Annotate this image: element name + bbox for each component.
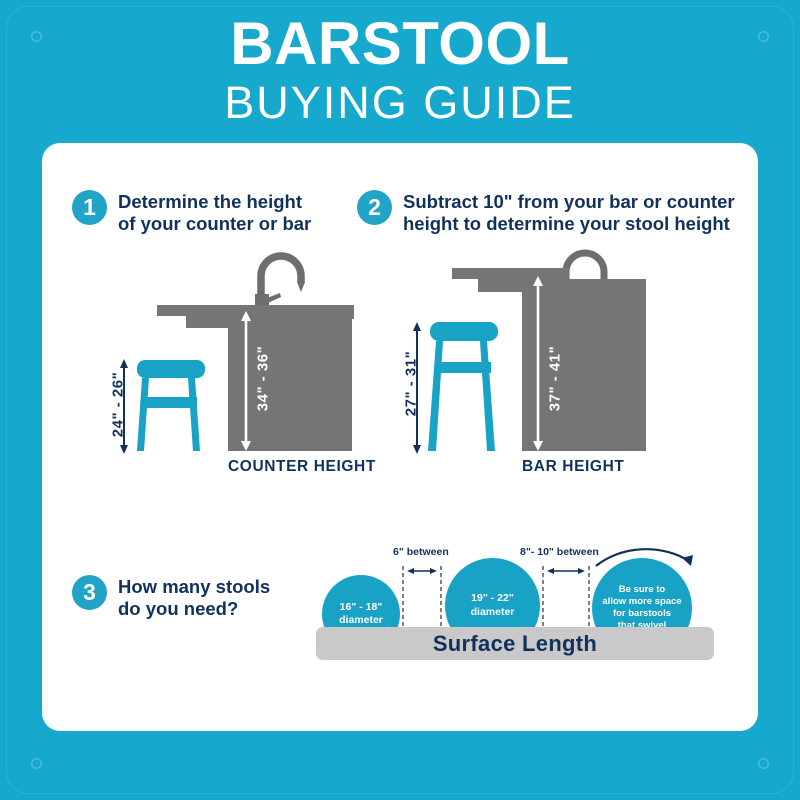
counter-stool-leg-right [188, 378, 200, 451]
swivel-arc-icon [596, 549, 689, 566]
bar-stool-seat [430, 322, 498, 341]
gap-1-arrow-head-left [407, 568, 414, 574]
surface-length-bar: Surface Length [316, 627, 714, 660]
bar-stool-arrow-head-top [413, 322, 421, 331]
step-2-badge: 2 [357, 190, 392, 225]
step-3: 3 How many stools do you need? [72, 575, 270, 620]
step-3-badge: 3 [72, 575, 107, 610]
bar-stool-stretcher [437, 362, 491, 373]
countertop-top [157, 305, 352, 316]
counter-stool-leg-left [137, 378, 149, 451]
counter-surface-height-label: 34" - 36" [255, 344, 272, 414]
counter-stool-arrow-head-bottom [120, 445, 128, 454]
step-3-text: How many stools do you need? [118, 575, 270, 620]
grommet-bottom-left-icon [31, 758, 42, 769]
counter-stool-height-label: 24" - 26" [110, 370, 127, 440]
gap-2-label: 8"- 10" between [520, 546, 599, 558]
counter-stool-stretcher [141, 397, 197, 408]
poster-root: BARSTOOL BUYING GUIDE 1 Determine the he… [0, 0, 800, 800]
countertop-right-lip [344, 305, 354, 319]
surface-length-label: Surface Length [433, 631, 597, 657]
gap-2-arrow-head-left [547, 568, 554, 574]
poster-title: BARSTOOL [0, 14, 800, 74]
step-1-text: Determine the height of your counter or … [118, 190, 311, 235]
bar-cabinet [522, 279, 646, 451]
grommet-bottom-right-icon [758, 758, 769, 769]
counter-stool-seat [137, 360, 205, 378]
bar-stool-leg-right [480, 341, 495, 451]
faucet-tip-icon [297, 282, 305, 292]
bar-stool-arrow-head-bottom [413, 445, 421, 454]
step-2-text: Subtract 10" from your bar or counter he… [403, 190, 735, 235]
bar-stool-height-label: 27" - 31" [403, 349, 420, 419]
swivel-arrow-head-icon [682, 555, 693, 566]
counter-height-diagram: 24" - 26" 34" - 36" [100, 250, 380, 480]
counter-height-caption: COUNTER HEIGHT [228, 458, 376, 476]
bar-diagram-graphics [390, 250, 670, 480]
faucet-spout-icon [261, 256, 301, 297]
gap-2-arrow-head-right [578, 568, 585, 574]
gap-1-arrow-head-right [430, 568, 437, 574]
bar-height-diagram: 27" - 31" 37" - 41" [390, 250, 670, 480]
bar-surface-height-label: 37" - 41" [547, 344, 564, 414]
faucet-handle-icon [267, 293, 281, 303]
poster-subtitle: BUYING GUIDE [0, 78, 800, 128]
counter-diagram-graphics [100, 250, 380, 480]
step-1: 1 Determine the height of your counter o… [72, 190, 311, 235]
step-2: 2 Subtract 10" from your bar or counter … [357, 190, 735, 235]
step-1-badge: 1 [72, 190, 107, 225]
poster-header: BARSTOOL BUYING GUIDE [0, 14, 800, 128]
bar-top-slab [452, 268, 568, 279]
gap-1-label: 6" between [393, 546, 449, 558]
bar-height-caption: BAR HEIGHT [522, 458, 624, 476]
counter-stool-arrow-head-top [120, 359, 128, 368]
bar-stool-leg-left [428, 341, 443, 451]
